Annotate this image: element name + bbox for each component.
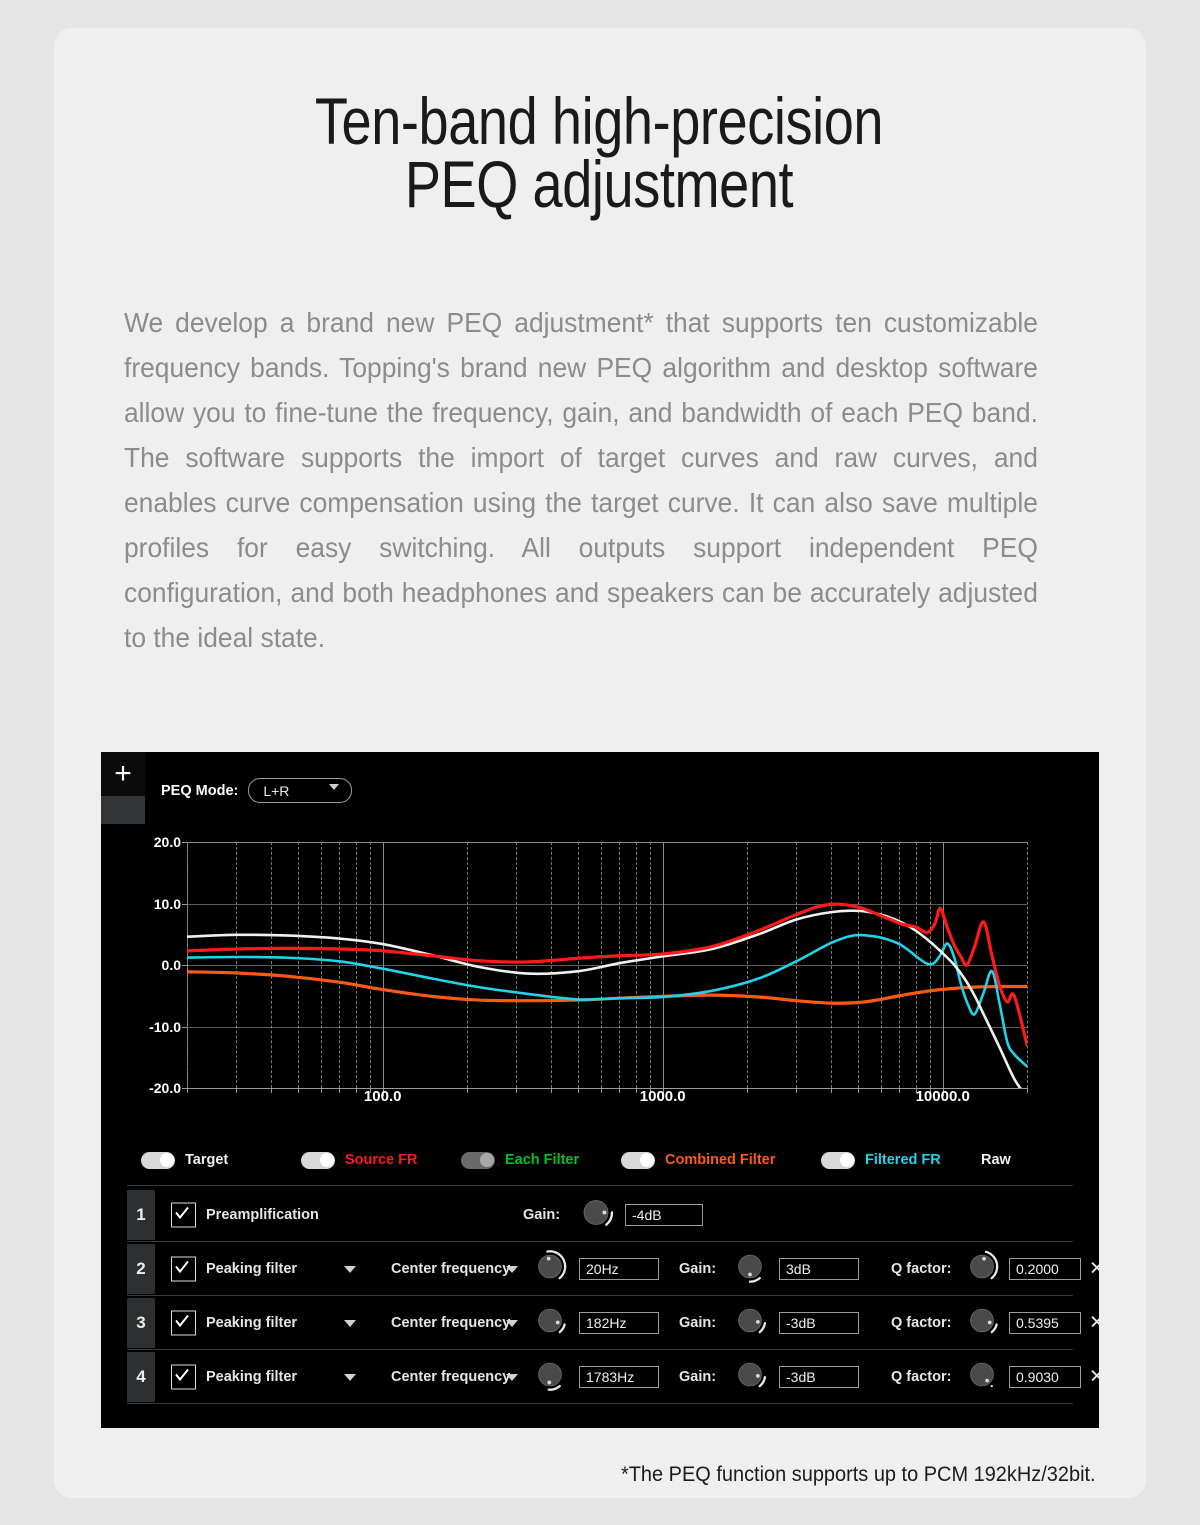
peq-mode-value: L+R (249, 783, 289, 799)
gain-value-input[interactable]: -4dB (625, 1204, 703, 1226)
remove-filter-button[interactable]: ✕ (1089, 1260, 1099, 1279)
gain-value-input[interactable]: -3dB (779, 1366, 859, 1388)
filter-row: 2Peaking filterCenter frequency20HzGain:… (101, 1242, 1099, 1296)
gain-knob[interactable] (576, 1193, 616, 1238)
chart-x-tick (321, 1088, 322, 1093)
q-factor-knob[interactable] (963, 1302, 1001, 1345)
filter-type-dropdown-caret[interactable] (344, 1266, 356, 1273)
chart-x-tick (236, 1088, 237, 1093)
q-factor-label: Q factor: (891, 1261, 951, 1277)
chart-x-tick-label: 10000.0 (916, 1088, 970, 1105)
chart-x-tick (187, 1088, 188, 1093)
filter-param-dropdown-caret[interactable] (506, 1266, 518, 1273)
chart-x-tick (356, 1088, 357, 1093)
curve-toggle-each-filter[interactable]: Each Filter (461, 1152, 579, 1169)
chart-x-tick (796, 1088, 797, 1093)
filter-type-dropdown-caret[interactable] (344, 1374, 356, 1381)
chart-series-filtered-fr (187, 935, 1027, 1066)
chart-y-tick-label: 20.0 (154, 834, 181, 850)
plus-icon: + (114, 759, 132, 789)
product-card: Ten-band high-precision PEQ adjustment W… (54, 28, 1146, 1498)
chart-x-tick (467, 1088, 468, 1093)
toggle-switch[interactable] (461, 1152, 495, 1169)
filter-type-label: Peaking filter (206, 1369, 297, 1385)
filter-param-dropdown-caret[interactable] (506, 1320, 518, 1327)
filter-index: 1 (127, 1190, 155, 1240)
toggle-knob (320, 1153, 334, 1167)
curve-toggle-label: Filtered FR (865, 1152, 941, 1168)
footnote: *The PEQ function supports up to PCM 192… (621, 1463, 1096, 1487)
toggle-knob (480, 1153, 494, 1167)
chart-x-tick (601, 1088, 602, 1093)
curve-toggle-label: Each Filter (505, 1152, 579, 1168)
remove-filter-button[interactable]: ✕ (1089, 1368, 1099, 1387)
filter-param-label: Center frequency (391, 1315, 510, 1331)
frequency-value-input[interactable]: 182Hz (579, 1312, 659, 1334)
frequency-response-chart: 20.010.00.0-10.0-20.0 100.01000.010000.0 (101, 830, 1099, 1120)
filter-enable-checkbox[interactable] (171, 1257, 196, 1282)
toggle-knob (160, 1153, 174, 1167)
filter-type-dropdown-caret[interactable] (344, 1320, 356, 1327)
description-text: We develop a brand new PEQ adjustment* t… (124, 300, 1038, 660)
chevron-down-icon (329, 784, 339, 790)
filter-enable-checkbox[interactable] (171, 1365, 196, 1390)
toggle-switch[interactable] (621, 1152, 655, 1169)
filter-row: 3Peaking filterCenter frequency182HzGain… (101, 1296, 1099, 1350)
frequency-knob[interactable] (531, 1248, 569, 1291)
frequency-knob[interactable] (531, 1356, 569, 1399)
gain-knob[interactable] (731, 1302, 769, 1345)
toggle-switch[interactable] (821, 1152, 855, 1169)
curve-toggle-label: Raw (981, 1152, 1011, 1168)
chart-x-tick (551, 1088, 552, 1093)
curve-toggle-filtered-fr[interactable]: Filtered FR (821, 1152, 941, 1169)
description-paragraph: We develop a brand new PEQ adjustment* t… (124, 300, 1038, 660)
toggle-switch[interactable] (141, 1152, 175, 1169)
frequency-value-input[interactable]: 20Hz (579, 1258, 659, 1280)
chart-x-tick (298, 1088, 299, 1093)
chart-curves (187, 842, 1027, 1088)
curve-toggle-label: Target (185, 1152, 228, 1168)
q-factor-knob[interactable] (963, 1248, 1001, 1291)
filter-enable-checkbox[interactable] (171, 1203, 196, 1228)
curve-toggle-target[interactable]: Target (141, 1152, 228, 1169)
filter-param-label: Center frequency (391, 1369, 510, 1385)
chart-y-tick-label: -20.0 (149, 1080, 181, 1096)
q-factor-value-input[interactable]: 0.9030 (1009, 1366, 1081, 1388)
page-title: Ten-band high-precision PEQ adjustment (201, 90, 996, 215)
filter-index: 3 (127, 1298, 155, 1348)
toggle-knob (840, 1153, 854, 1167)
curve-toggle-raw[interactable]: Raw (981, 1152, 1011, 1168)
filter-param-label: Center frequency (391, 1261, 510, 1277)
filter-index: 2 (127, 1244, 155, 1294)
chart-plot-area[interactable]: 20.010.00.0-10.0-20.0 (187, 842, 1027, 1088)
gain-label: Gain: (679, 1261, 716, 1277)
filter-type-label: Preamplification (206, 1207, 319, 1223)
chart-x-tick (747, 1088, 748, 1093)
toggle-switch[interactable] (301, 1152, 335, 1169)
gain-knob[interactable] (731, 1248, 769, 1291)
chart-y-tick-label: 0.0 (162, 957, 181, 973)
chart-y-tick-label: 10.0 (154, 896, 181, 912)
chart-x-tick (339, 1088, 340, 1093)
page-title-line2: PEQ adjustment (201, 153, 996, 216)
gain-knob[interactable] (731, 1356, 769, 1399)
chart-y-tick-label: -10.0 (149, 1019, 181, 1035)
frequency-knob[interactable] (531, 1302, 569, 1345)
gain-value-input[interactable]: -3dB (779, 1312, 859, 1334)
filter-row: 1PreamplificationGain:-4dB (101, 1188, 1099, 1242)
chart-x-tick (271, 1088, 272, 1093)
frequency-value-input[interactable]: 1783Hz (579, 1366, 659, 1388)
add-profile-tab[interactable]: + (101, 752, 145, 796)
q-factor-value-input[interactable]: 0.5395 (1009, 1312, 1081, 1334)
q-factor-label: Q factor: (891, 1369, 951, 1385)
curve-toggle-label: Source FR (345, 1152, 418, 1168)
curve-toggle-label: Combined Filter (665, 1152, 775, 1168)
chart-x-tick (516, 1088, 517, 1093)
q-factor-value-input[interactable]: 0.2000 (1009, 1258, 1081, 1280)
chart-x-axis-line (187, 1088, 1027, 1089)
curve-toggle-row: TargetSource FREach FilterCombined Filte… (101, 1134, 1099, 1186)
chart-x-tick (831, 1088, 832, 1093)
toggle-knob (640, 1153, 654, 1167)
filter-type-label: Peaking filter (206, 1315, 297, 1331)
q-factor-knob[interactable] (963, 1356, 1001, 1399)
peq-software-panel: + PEQ Mode: L+R 20.010.00.0-10.0-20.0 10… (101, 752, 1099, 1428)
chart-x-tick (858, 1088, 859, 1093)
chart-x-tick-label: 1000.0 (640, 1088, 686, 1105)
peq-mode-select[interactable]: L+R (248, 778, 352, 803)
chart-x-axis (187, 1088, 1027, 1114)
peq-mode-label: PEQ Mode: (161, 783, 238, 799)
chart-x-tick (636, 1088, 637, 1093)
filter-enable-checkbox[interactable] (171, 1311, 196, 1336)
filter-list: 1PreamplificationGain:-4dB2Peaking filte… (101, 1188, 1099, 1404)
chart-x-tick (578, 1088, 579, 1093)
gain-label: Gain: (679, 1315, 716, 1331)
peq-mode-control: PEQ Mode: L+R (161, 778, 352, 803)
gain-label: Gain: (523, 1207, 560, 1223)
chart-gridline-minor (1027, 842, 1028, 1088)
chart-x-tick (881, 1088, 882, 1093)
gain-label: Gain: (679, 1369, 716, 1385)
curve-toggle-combined-filter[interactable]: Combined Filter (621, 1152, 775, 1169)
chart-series-source-fr (187, 904, 1027, 1045)
chart-x-tick (1027, 1088, 1028, 1093)
filter-type-label: Peaking filter (206, 1261, 297, 1277)
remove-filter-button[interactable]: ✕ (1089, 1314, 1099, 1333)
filter-index: 4 (127, 1352, 155, 1402)
chart-x-tick (619, 1088, 620, 1093)
curve-toggle-source-fr[interactable]: Source FR (301, 1152, 418, 1169)
filter-row: 4Peaking filterCenter frequency1783HzGai… (101, 1350, 1099, 1404)
q-factor-label: Q factor: (891, 1315, 951, 1331)
filter-param-dropdown-caret[interactable] (506, 1374, 518, 1381)
chart-x-tick (899, 1088, 900, 1093)
gain-value-input[interactable]: 3dB (779, 1258, 859, 1280)
chart-x-tick-label: 100.0 (364, 1088, 402, 1105)
sidebar-tab-secondary[interactable] (101, 796, 145, 824)
